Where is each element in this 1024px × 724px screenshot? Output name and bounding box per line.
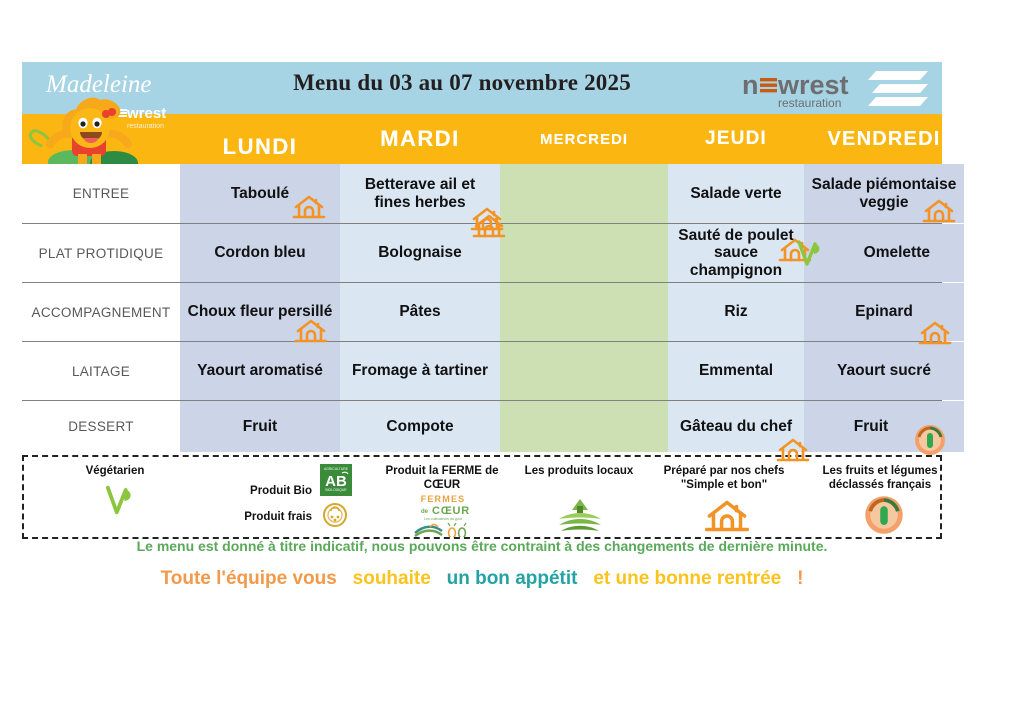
row-label-entree: ENTREE (22, 164, 180, 223)
ab-bio-icon: AB AGRICULTURE BIOLOGIQUE (319, 463, 353, 497)
cell-laitage-vendredi: Yaourt sucré (804, 342, 964, 400)
vegetarian-icon (102, 481, 136, 519)
cell-text: Cordon bleu (208, 244, 311, 261)
legend-label-produits-locaux: Les produits locaux (524, 465, 634, 479)
cell-text: Yaourt aromatisé (191, 362, 329, 379)
cell-text: Riz (718, 303, 753, 320)
row-label-laitage: LAITAGE (22, 342, 180, 400)
cell-accompagnement-mardi: Pâtes (340, 283, 500, 341)
cell-text: Pâtes (393, 303, 446, 320)
row-label-dessert: DESSERT (22, 401, 180, 452)
wish-line: Toute l'équipe vous souhaite un bon appé… (22, 568, 942, 590)
cell-laitage-jeudi: Emmental (668, 342, 804, 400)
day-header-vendredi: VENDREDI (804, 114, 964, 164)
cell-text: Fruit (237, 418, 283, 435)
svg-text:wrest: wrest (126, 105, 166, 122)
cell-text: Yaourt sucré (831, 362, 937, 379)
legend-label-prepare-par-nos-chefs: Préparé par nos chefs "Simple et bon" (650, 465, 798, 493)
cell-text: Salade verte (684, 185, 787, 202)
svg-text:CŒUR: CŒUR (432, 505, 470, 517)
svg-text:AGRICULTURE: AGRICULTURE (324, 467, 349, 471)
local-products-icon (557, 497, 603, 535)
cell-laitage-mercredi (500, 342, 668, 400)
fermes-de-coeur-icon: FERMES de CŒUR Les cultivateurs du goût (412, 493, 474, 537)
day-header-lundi: LUNDI (180, 114, 340, 164)
house-icon (472, 212, 506, 240)
house-icon (292, 193, 326, 221)
cell-accompagnement-vendredi: Epinard (804, 283, 964, 341)
cell-plat-lundi: Cordon bleu (180, 224, 340, 282)
cell-accompagnement-mercredi (500, 283, 668, 341)
cell-plat-jeudi: Sauté de poulet sauce champignon (668, 224, 804, 282)
cell-text: Taboulé (225, 185, 295, 202)
cell-entree-jeudi: Salade verte (668, 164, 804, 223)
cell-text: Omelette (858, 244, 936, 261)
svg-text:n: n (742, 70, 759, 100)
svg-text:restauration: restauration (127, 123, 164, 130)
cell-laitage-lundi: Yaourt aromatisé (180, 342, 340, 400)
row-label-plat-protidique: PLAT PROTIDIQUE (22, 224, 180, 282)
produit-frais-icon (321, 499, 349, 529)
cell-entree-mercredi (500, 164, 668, 223)
disclaimer-note: Le menu est donné à titre indicatif, nou… (22, 538, 942, 554)
cell-text: Fruit (848, 418, 894, 435)
page-title: Menu du 03 au 07 novembre 2025 (202, 70, 722, 96)
cell-text: Compote (380, 418, 459, 435)
svg-text:FERMES: FERMES (421, 494, 466, 504)
wish-part-2: souhaite (353, 568, 431, 589)
svg-text:BIOLOGIQUE: BIOLOGIQUE (325, 488, 347, 492)
cell-accompagnement-lundi: Choux fleur persillé (180, 283, 340, 341)
wish-part-4: et une bonne rentrée (593, 568, 781, 589)
anti-gaspi-icon (914, 424, 946, 456)
legend-label-vegetarien: Végétarien (60, 465, 170, 479)
svg-text:de: de (421, 509, 429, 515)
legend-label-ferme-de-coeur: Produit la FERME de CŒUR (376, 465, 508, 493)
cell-dessert-lundi: Fruit (180, 401, 340, 452)
cell-dessert-jeudi: Gâteau du chef (668, 401, 804, 452)
cell-accompagnement-jeudi: Riz (668, 283, 804, 341)
cell-text: Fromage à tartiner (346, 362, 494, 379)
anti-gaspi-icon (864, 495, 904, 535)
cell-dessert-vendredi: Fruit (804, 401, 964, 452)
house-icon (922, 197, 956, 225)
day-header-jeudi: JEUDI (668, 114, 804, 164)
cell-text: Bolognaise (372, 244, 468, 261)
wish-part-5: ! (797, 568, 803, 589)
newrest-logo: n wrest restauration (738, 66, 938, 112)
cell-plat-mercredi (500, 224, 668, 282)
legend-label-produit-bio: Produit Bio (214, 485, 312, 499)
cell-entree-lundi: Taboulé (180, 164, 340, 223)
cell-entree-vendredi: Salade piémontaise veggie (804, 164, 964, 223)
cell-dessert-mardi: Compote (340, 401, 500, 452)
cell-text: Gâteau du chef (674, 418, 798, 435)
wish-part-1: Toute l'équipe vous (161, 568, 337, 589)
wish-part-3: un bon appétit (447, 568, 578, 589)
row-label-accompagnement: ACCOMPAGNEMENT (22, 283, 180, 341)
cell-laitage-mardi: Fromage à tartiner (340, 342, 500, 400)
legend-label-produit-frais: Produit frais (214, 511, 312, 525)
house-icon (776, 436, 810, 464)
svg-text:Madeleine: Madeleine (45, 71, 152, 98)
cell-dessert-mercredi (500, 401, 668, 452)
cell-text: Epinard (849, 303, 919, 320)
cell-text: Emmental (693, 362, 779, 379)
cell-plat-mardi: Bolognaise (340, 224, 500, 282)
svg-text:Les cultivateurs du goût: Les cultivateurs du goût (424, 517, 462, 521)
day-header-mardi: MARDI (340, 114, 500, 164)
house-icon (918, 319, 952, 347)
house-icon (704, 497, 750, 535)
cell-plat-vendredi: Omelette (804, 224, 964, 282)
house-icon (294, 317, 328, 345)
legend-label-fruits-legumes-declasses: Les fruits et légumes déclassés français (804, 465, 956, 493)
legend-box: Végétarien Produit Bio AB AGRICULTURE BI… (22, 455, 942, 539)
menu-sheet: Menu du 03 au 07 novembre 2025 n wrest r… (0, 0, 1024, 724)
menu-table: ENTREE Taboulé Betterave ail et fines he… (22, 164, 942, 452)
day-header-mercredi: MERCREDI (500, 114, 668, 164)
svg-text:restauration: restauration (778, 96, 841, 110)
vegetarian-icon (794, 236, 824, 270)
